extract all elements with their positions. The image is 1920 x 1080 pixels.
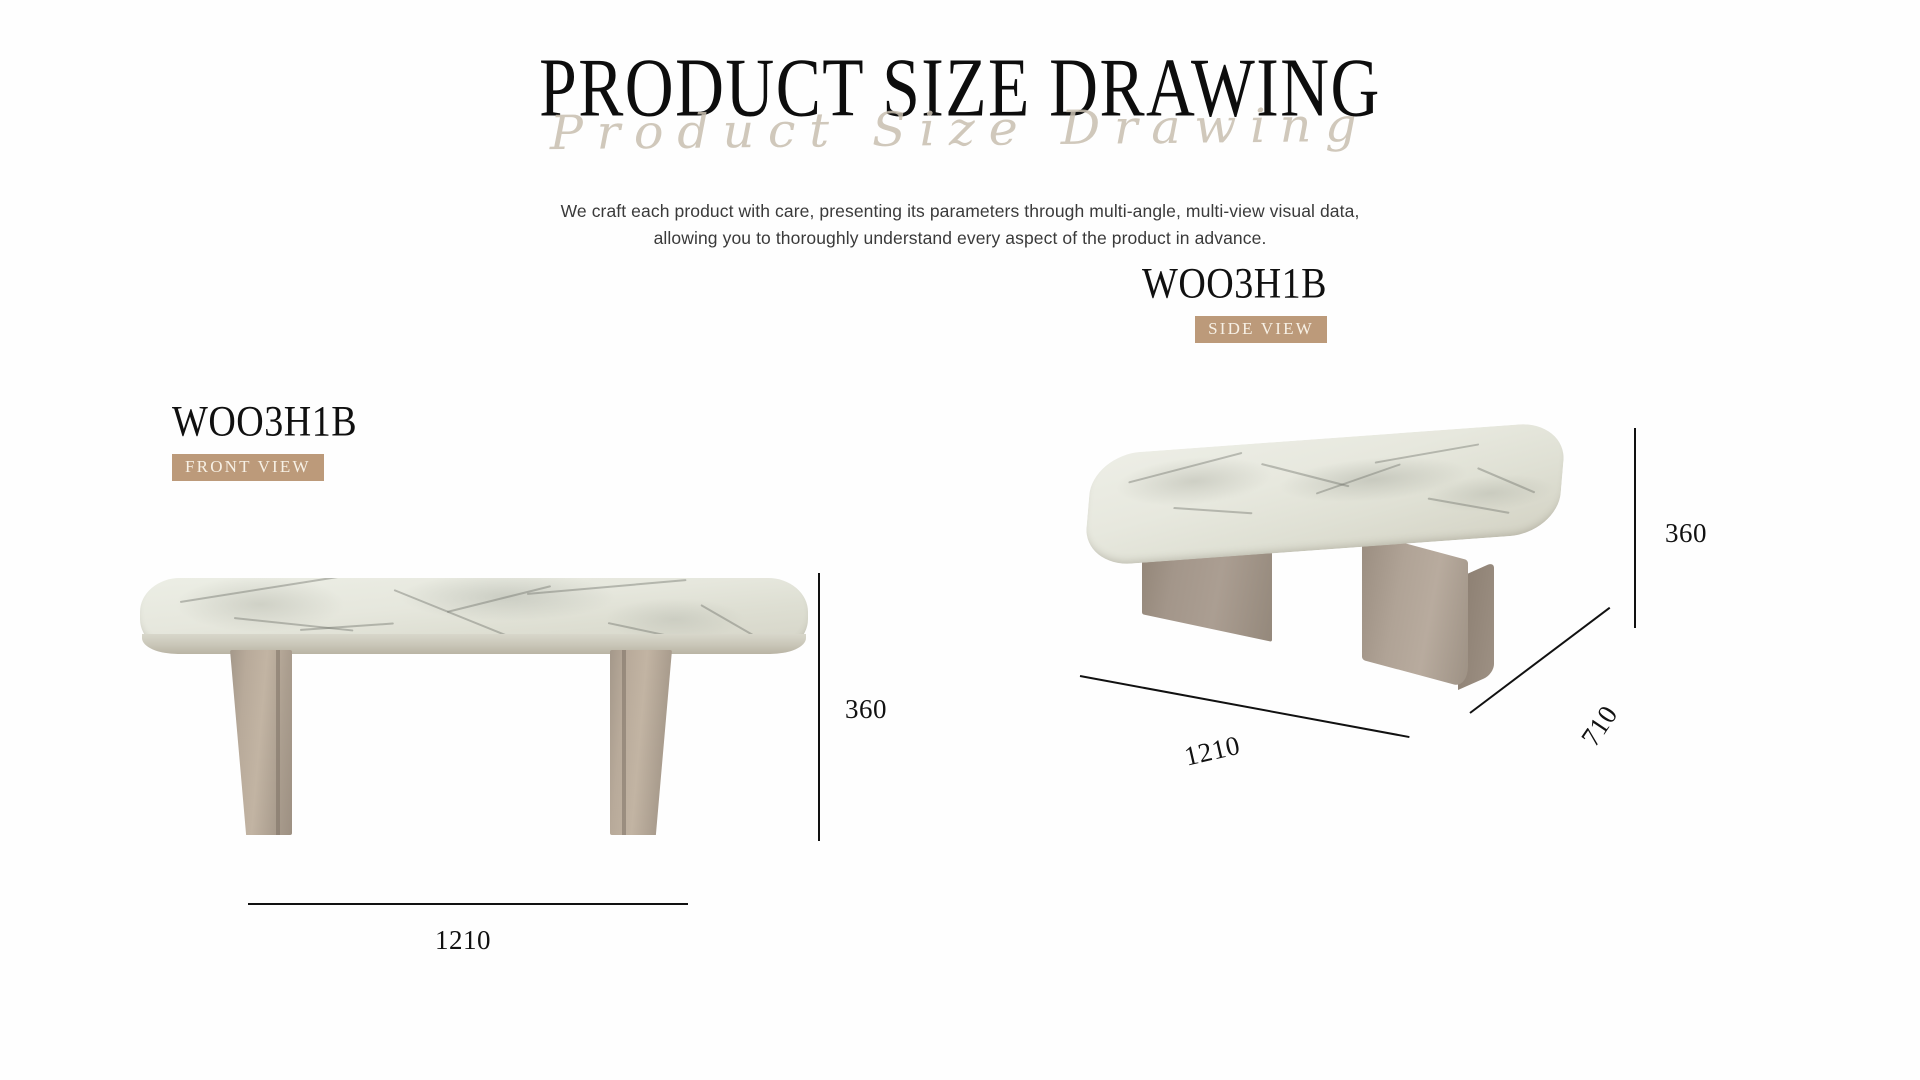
front-width-dimension-value: 1210 bbox=[435, 925, 491, 956]
front-height-dimension-value: 360 bbox=[845, 694, 887, 725]
side-depth-dimension-value: 710 bbox=[1575, 700, 1624, 752]
front-width-dimension-line bbox=[248, 903, 688, 905]
page-subtitle: We craft each product with care, present… bbox=[0, 198, 1920, 252]
table-leg-left-front bbox=[230, 650, 292, 835]
side-view-product-image bbox=[1090, 438, 1560, 698]
front-view-product-image bbox=[140, 578, 808, 840]
front-height-dimension-line bbox=[818, 573, 820, 841]
page-header: PRODUCT SIZE DRAWING Product Size Drawin… bbox=[0, 0, 1920, 252]
side-width-dimension-value: 1210 bbox=[1182, 730, 1244, 773]
side-view-label-group: WOO3H1B SIDE VIEW bbox=[1142, 262, 1327, 343]
table-leg-right-perspective bbox=[1362, 532, 1468, 688]
marble-tabletop-perspective bbox=[1083, 421, 1567, 567]
subtitle-line-1: We craft each product with care, present… bbox=[0, 198, 1920, 225]
side-view-model-code: WOO3H1B bbox=[1142, 262, 1327, 306]
side-height-dimension-value: 360 bbox=[1665, 518, 1707, 549]
side-height-dimension-line bbox=[1634, 428, 1636, 628]
table-leg-right-front bbox=[610, 650, 672, 835]
front-view-badge: FRONT VIEW bbox=[172, 454, 324, 481]
front-view-model-code: WOO3H1B bbox=[172, 400, 357, 444]
subtitle-line-2: allowing you to thoroughly understand ev… bbox=[0, 225, 1920, 252]
title-block: PRODUCT SIZE DRAWING Product Size Drawin… bbox=[0, 46, 1920, 176]
front-view-label-group: WOO3H1B FRONT VIEW bbox=[172, 400, 357, 481]
side-view-badge: SIDE VIEW bbox=[1195, 316, 1327, 343]
